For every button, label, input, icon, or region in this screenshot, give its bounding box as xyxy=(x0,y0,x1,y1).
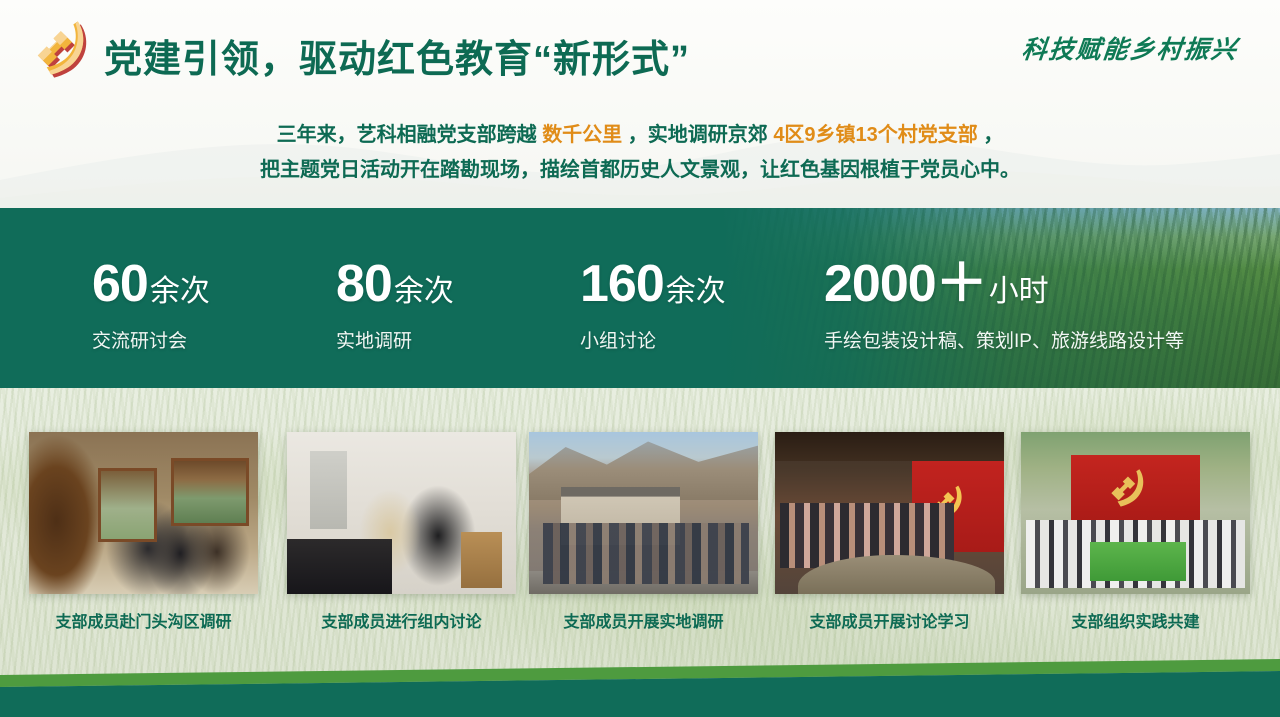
subtitle-block: 三年来，艺科相融党支部跨越 数千公里 ，实地调研京郊 4区9乡镇13个村党支部 … xyxy=(0,118,1280,188)
stat-unit: 余次 xyxy=(394,275,454,308)
slide-header: 党建引领，驱动红色教育“新形式” 科技赋能乡村振兴 xyxy=(0,0,1280,104)
stat-number-row: 80余次 xyxy=(336,258,454,310)
photo-detail-crowd xyxy=(543,523,749,585)
stat-item-fieldwork: 80余次 实地调研 xyxy=(336,258,454,353)
photo-caption: 支部成员开展讨论学习 xyxy=(775,608,1004,632)
photo-caption: 支部组织实践共建 xyxy=(1021,608,1250,632)
photo-detail-door xyxy=(98,468,158,543)
subtitle-line-1: 三年来，艺科相融党支部跨越 数千公里 ，实地调研京郊 4区9乡镇13个村党支部 … xyxy=(0,118,1280,153)
photo-detail-roof-beam xyxy=(775,432,1004,461)
stat-number-row: 2000＋小时 xyxy=(824,258,1184,310)
photo-caption: 支部成员开展实地调研 xyxy=(529,608,758,632)
photo-detail-window xyxy=(171,458,249,526)
photo-detail-carton xyxy=(461,532,502,587)
stat-number: 80 xyxy=(336,255,392,313)
stat-unit: 余次 xyxy=(150,275,210,308)
photo-image-village-fieldwork xyxy=(529,432,758,594)
stat-label: 交流研讨会 xyxy=(92,326,210,353)
stat-label: 手绘包装设计稿、策划IP、旅游线路设计等 xyxy=(824,326,1184,353)
photo-caption: 支部成员赴门头沟区调研 xyxy=(29,608,258,632)
stat-number: 60 xyxy=(92,255,148,313)
photo-card[interactable] xyxy=(1021,432,1250,594)
stat-unit: 小时 xyxy=(989,275,1049,308)
subtitle-line-2: 把主题党日活动开在踏勘现场，描绘首都历史人文景观，让红色基因根植于党员心中。 xyxy=(0,153,1280,188)
party-emblem-icon xyxy=(1103,464,1155,514)
photo-card[interactable] xyxy=(775,432,1004,594)
photo-caption: 支部成员进行组内讨论 xyxy=(287,608,516,632)
photo-card[interactable] xyxy=(29,432,258,594)
page-title: 党建引领，驱动红色教育“新形式” xyxy=(104,28,690,83)
party-emblem-hammer-sickle-icon xyxy=(26,14,100,88)
brand-slogan: 科技赋能乡村振兴 xyxy=(1020,30,1240,66)
photo-image-group-discussion xyxy=(287,432,516,594)
stat-label: 实地调研 xyxy=(336,326,454,353)
subtitle-text-b: ，实地调研京郊 xyxy=(622,124,773,146)
bottom-decoration-bands xyxy=(0,637,1280,717)
slide-root: 党建引领，驱动红色教育“新形式” 科技赋能乡村振兴 三年来，艺科相融党支部跨越 … xyxy=(0,0,1280,717)
photo-card[interactable] xyxy=(287,432,516,594)
photo-detail-cabinet xyxy=(310,451,347,529)
photo-detail-sofa xyxy=(287,539,392,594)
photo-detail-green-banner xyxy=(1090,542,1186,581)
stat-label: 小组讨论 xyxy=(580,326,726,353)
stat-number-row: 160余次 xyxy=(580,258,726,310)
stat-number: 160 xyxy=(580,255,664,313)
stat-item-design-hours: 2000＋小时 手绘包装设计稿、策划IP、旅游线路设计等 xyxy=(824,258,1184,353)
subtitle-text-a: 三年来，艺科相融党支部跨越 xyxy=(277,124,543,146)
subtitle-text-c: ， xyxy=(978,124,1004,146)
stat-unit: 余次 xyxy=(666,275,726,308)
photo-strip: 支部成员赴门头沟区调研 支部成员进行组内讨论 支部成员开展实地调研 支部成员开展… xyxy=(0,432,1280,632)
subtitle-highlight-distance: 数千公里 xyxy=(542,124,622,146)
photo-image-mentougou-research xyxy=(29,432,258,594)
photo-image-exhibition-study xyxy=(775,432,1004,594)
stat-item-group-discussions: 160余次 小组讨论 xyxy=(580,258,726,353)
photo-card[interactable] xyxy=(529,432,758,594)
photo-image-practice-group-photo xyxy=(1021,432,1250,594)
subtitle-highlight-scope: 4区9乡镇13个村党支部 xyxy=(773,124,978,146)
stat-number-row: 60余次 xyxy=(92,258,210,310)
stat-item-seminars: 60余次 交流研讨会 xyxy=(92,258,210,353)
stat-number: 2000＋ xyxy=(824,255,987,313)
